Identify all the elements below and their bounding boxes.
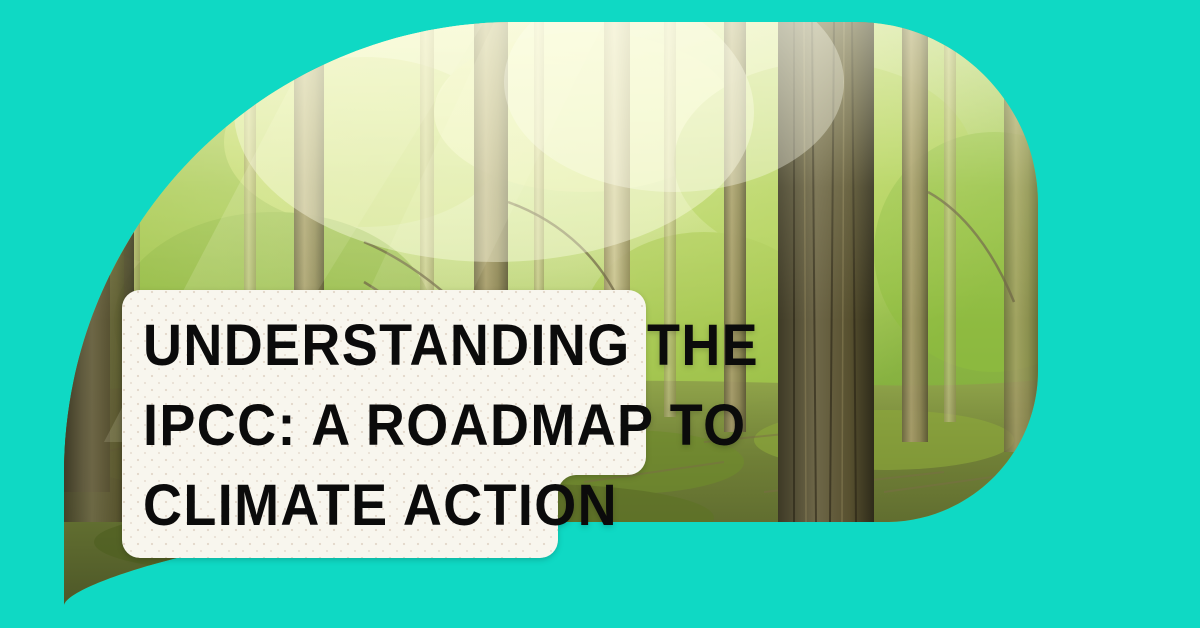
headline-line-2: IPCC: A ROADMAP TO	[143, 386, 580, 466]
headline-text-block: UNDERSTANDING THE IPCC: A ROADMAP TO CLI…	[143, 306, 613, 546]
poster-canvas: UNDERSTANDING THE IPCC: A ROADMAP TO CLI…	[0, 0, 1200, 628]
headline-card: UNDERSTANDING THE IPCC: A ROADMAP TO CLI…	[122, 290, 646, 558]
headline-line-1: UNDERSTANDING THE	[143, 306, 580, 386]
headline-line-3: CLIMATE ACTION	[143, 466, 580, 546]
